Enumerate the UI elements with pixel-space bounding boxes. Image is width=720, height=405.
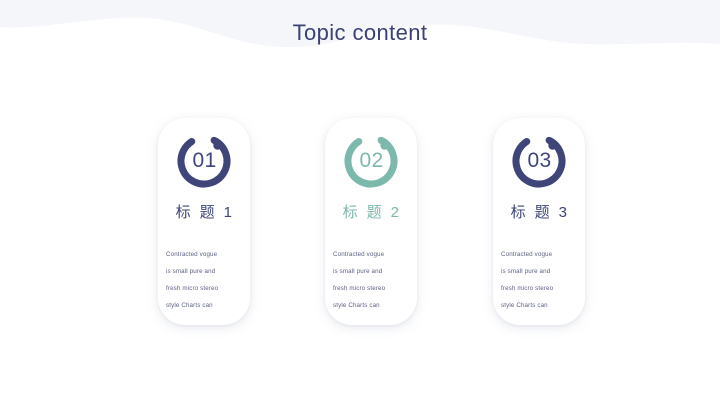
body-line: fresh micro stereo	[501, 280, 577, 297]
body-line: Contracted vogue	[166, 246, 242, 263]
card-title-03: 标 题 3	[493, 203, 585, 223]
card-number-03: 03	[509, 131, 569, 191]
ring-badge-03: 03	[509, 131, 569, 191]
card-title-01: 标 题 1	[158, 203, 250, 223]
card-body-01: Contracted vogue is small pure and fresh…	[158, 246, 250, 314]
ring-badge-02: 02	[341, 131, 401, 191]
body-line: style Charts can	[501, 297, 577, 314]
content-card-01[interactable]: 01 标 题 1 Contracted vogue is small pure …	[158, 118, 250, 325]
body-line: style Charts can	[333, 297, 409, 314]
body-line: is small pure and	[166, 263, 242, 280]
body-line: is small pure and	[501, 263, 577, 280]
body-line: Contracted vogue	[333, 246, 409, 263]
body-line: is small pure and	[333, 263, 409, 280]
card-body-02: Contracted vogue is small pure and fresh…	[325, 246, 417, 314]
cards-row: 01 标 题 1 Contracted vogue is small pure …	[158, 118, 586, 326]
slide-canvas: Topic content 01 标 题 1 Contracted vogue …	[0, 0, 720, 405]
card-title-02: 标 题 2	[325, 203, 417, 223]
body-line: style Charts can	[166, 297, 242, 314]
card-number-02: 02	[341, 131, 401, 191]
body-line: Contracted vogue	[501, 246, 577, 263]
content-card-03[interactable]: 03 标 题 3 Contracted vogue is small pure …	[493, 118, 585, 325]
body-line: fresh micro stereo	[333, 280, 409, 297]
body-line: fresh micro stereo	[166, 280, 242, 297]
card-body-03: Contracted vogue is small pure and fresh…	[493, 246, 585, 314]
card-number-01: 01	[174, 131, 234, 191]
content-card-02[interactable]: 02 标 题 2 Contracted vogue is small pure …	[325, 118, 417, 325]
ring-badge-01: 01	[174, 131, 234, 191]
page-title: Topic content	[0, 19, 720, 47]
